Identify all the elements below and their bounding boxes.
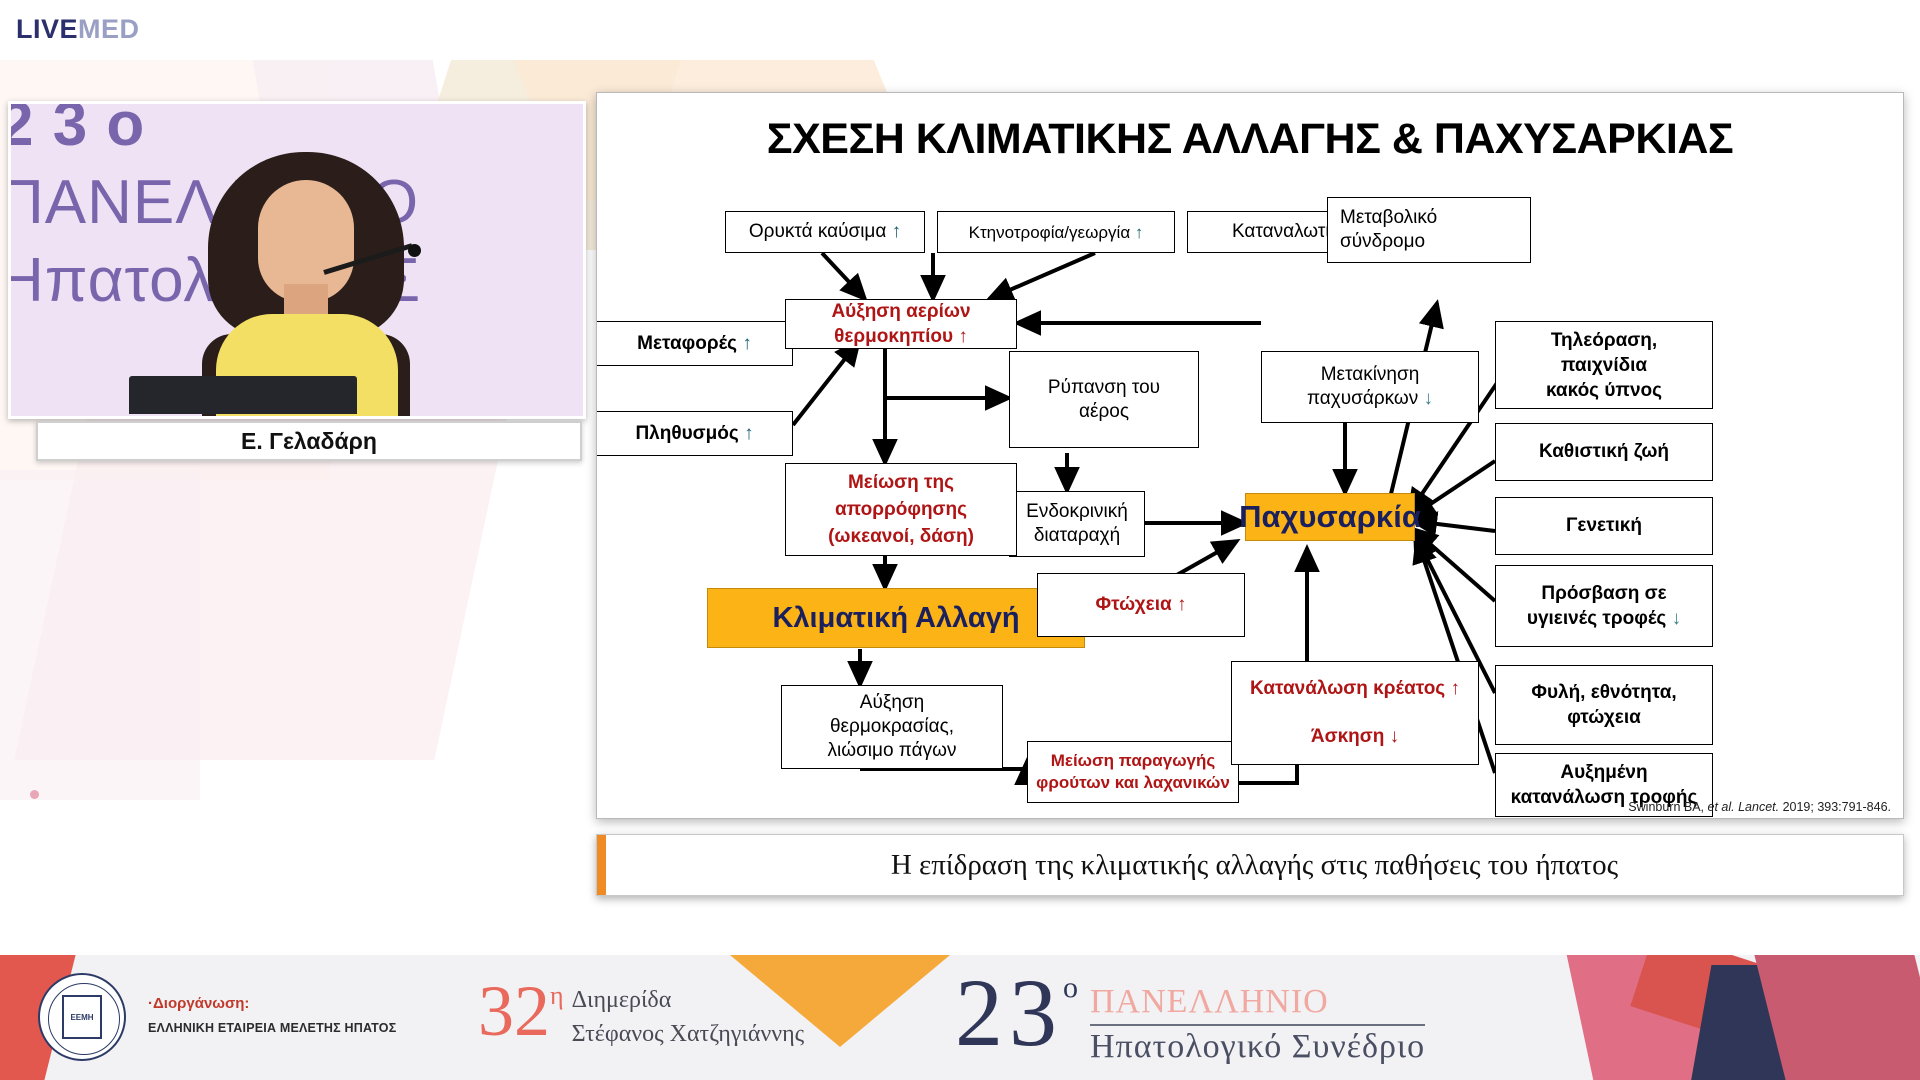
- node-fyli-ethnotita[interactable]: Φυλή, εθνότητα, φτώχεια: [1495, 665, 1713, 745]
- organizer-block: Διοργάνωση: ΕΛΛΗΝΙΚΗ ΕΤΑΙΡΕΙΑ ΜΕΛΕΤΗΣ ΗΠ…: [148, 995, 396, 1035]
- brand-live: LIVE: [16, 14, 78, 44]
- up-arrow-icon: ↑: [892, 220, 902, 244]
- event-23-line1: ΠΑΝΕΛΛΗΝΙΟ: [1090, 983, 1425, 1021]
- laptop-screen: [129, 376, 357, 414]
- node-prosvasi-line1: Πρόσβαση σε: [1541, 581, 1666, 606]
- node-meiosi-paragogis-line1: Μείωση παραγωγής: [1051, 750, 1216, 772]
- node-plithysmos[interactable]: Πληθυσμός ↑: [597, 411, 793, 456]
- event-23-text: ΠΑΝΕΛΛΗΝΙΟ Ηπατολογικό Συνέδριο: [1090, 983, 1425, 1066]
- node-tileorasi-line1: Τηλεόραση,: [1551, 328, 1657, 353]
- brand-logo: LIVEMED: [16, 14, 140, 45]
- node-auximeni-line1: Αυξημένη: [1560, 760, 1647, 785]
- lecture-title: Η επίδραση της κλιματικής αλλαγής στις π…: [606, 849, 1903, 882]
- event-32-block: 32 η Διημερίδα Στέφανος Χατζηγιάννης: [478, 977, 804, 1051]
- organizer-label: Διοργάνωση:: [148, 995, 396, 1012]
- down-arrow-icon: ↓: [1390, 726, 1400, 747]
- node-meiosi-aporrofisis-line2: απορρόφησης: [835, 496, 967, 523]
- up-arrow-icon: ↑: [742, 332, 752, 356]
- background-top-strip: [0, 0, 1920, 60]
- node-kathistiki-zoi-label: Καθιστική ζωή: [1539, 440, 1669, 464]
- lecture-title-banner: Η επίδραση της κλιματικής αλλαγής στις π…: [596, 834, 1904, 896]
- node-genetiki-label: Γενετική: [1566, 514, 1642, 538]
- node-endokriniki-line2: διαταραχή: [1034, 524, 1120, 548]
- node-auxisi-thermokrasias-line3: λιώσιμο πάγων: [828, 739, 957, 763]
- event-23-line2: Ηπατολογικό Συνέδριο: [1090, 1028, 1425, 1066]
- flow-diagram: Ορυκτά καύσιμα ↑ Κτηνοτροφία/γεωργία ↑ Κ…: [597, 93, 1905, 820]
- event-32-line1: Διημερίδα: [572, 983, 805, 1017]
- node-auxisi-thermokrasias[interactable]: Αύξηση θερμοκρασίας, λιώσιμο πάγων: [781, 685, 1003, 769]
- speaker-panel[interactable]: 2 3 ο ΠΑΝΕΛΛΗΝΙΟ Ηπατολογικό Σ Ε. Γελαδά…: [8, 101, 586, 461]
- event-23-suffix: ο: [1063, 971, 1078, 1005]
- node-fyli-line1: Φυλή, εθνότητα,: [1531, 680, 1676, 705]
- node-metakinisi-paxysarkon[interactable]: Μετακίνηση παχυσάρκων ↓: [1261, 351, 1479, 423]
- node-endokriniki-diataraxi[interactable]: Ενδοκρινική διαταραχή: [1009, 491, 1145, 557]
- node-metafores[interactable]: Μεταφορές ↑: [597, 321, 793, 366]
- node-meiosi-paragogis-line2: φρούτων και λαχανικών: [1036, 772, 1230, 794]
- event-32-suffix: η: [550, 981, 564, 1011]
- node-meiosi-aporrofisis[interactable]: Μείωση της απορρόφησης (ωκεανοί, δάση): [785, 463, 1017, 556]
- node-metaboliko-line1: Μεταβολικό: [1340, 206, 1437, 230]
- node-rypansi-aera[interactable]: Ρύπανση του αέρος: [1009, 351, 1199, 448]
- node-fyli-line2: φτώχεια: [1567, 705, 1641, 730]
- screen: LIVEMED 2 3 ο ΠΑΝΕΛΛΗΝΙΟ Ηπατολογικό Σ Ε…: [0, 0, 1920, 1080]
- organizer-name: ΕΛΛΗΝΙΚΗ ΕΤΑΙΡΕΙΑ ΜΕΛΕΤΗΣ ΗΠΑΤΟΣ: [148, 1021, 396, 1035]
- speaker-name: Ε. Γελαδάρη: [241, 428, 377, 455]
- event-32-line2: Στέφανος Χατζηγιάννης: [572, 1017, 805, 1051]
- node-endokriniki-line1: Ενδοκρινική: [1026, 500, 1128, 524]
- down-arrow-icon: ↓: [1672, 608, 1682, 629]
- society-logo: ΕΕΜΗ: [38, 973, 126, 1061]
- node-metakinisi-line1: Μετακίνηση: [1321, 363, 1420, 387]
- brand-med: MED: [78, 14, 140, 44]
- node-klimatiki-allagi[interactable]: Κλιματική Αλλαγή: [707, 588, 1085, 648]
- node-ftocheia[interactable]: Φτώχεια ↑: [1037, 573, 1245, 637]
- node-kathistiki-zoi[interactable]: Καθιστική ζωή: [1495, 423, 1713, 481]
- node-tileorasi-line3: κακός ύπνος: [1546, 378, 1662, 403]
- node-kreas-row: Κατανάλωση κρέατος ↑: [1250, 677, 1460, 701]
- speaker-name-plate: Ε. Γελαδάρη: [36, 421, 582, 461]
- event-23-divider: [1090, 1024, 1425, 1026]
- up-arrow-icon: ↑: [958, 326, 968, 347]
- event-32-text: Διημερίδα Στέφανος Χατζηγιάννης: [572, 983, 805, 1051]
- node-metaboliko-syndromo[interactable]: Μεταβολικό σύνδρομο: [1327, 197, 1531, 263]
- logo-text: ΕΕΜΗ: [70, 1013, 93, 1022]
- down-arrow-icon: ↓: [1424, 388, 1434, 409]
- node-auxisi-aerion[interactable]: Αύξηση αερίων θερμοκηπίου ↑: [785, 299, 1017, 349]
- node-prosvasi-line2: υγιεινές τροφές ↓: [1527, 606, 1681, 631]
- node-klimatiki-allagi-label: Κλιματική Αλλαγή: [772, 606, 1019, 630]
- background-shape: [0, 470, 200, 800]
- node-metakinisi-line2: παχυσάρκων ↓: [1307, 387, 1433, 411]
- node-ktinotrofia-label: Κτηνοτροφία/γεωργία: [969, 222, 1131, 243]
- node-meiosi-paragogis[interactable]: Μείωση παραγωγής φρούτων και λαχανικών: [1027, 741, 1239, 803]
- node-genetiki[interactable]: Γενετική: [1495, 497, 1713, 555]
- presentation-slide[interactable]: ΣΧΕΣΗ ΚΛΙΜΑΤΙΚΗΣ ΑΛΛΑΓΗΣ & ΠΑΧΥΣΑΡΚΙΑΣ: [596, 92, 1904, 819]
- citation-author: Swinburn BA,: [1628, 800, 1704, 814]
- citation-rest: 2019; 393:791-846.: [1779, 800, 1891, 814]
- up-arrow-icon: ↑: [1450, 678, 1460, 699]
- node-rypansi-line1: Ρύπανση του: [1048, 376, 1160, 400]
- node-auxisi-thermokrasias-line1: Αύξηση: [860, 691, 924, 715]
- event-32-number: 32: [478, 977, 550, 1045]
- node-paxysarkia[interactable]: Παχυσαρκία: [1245, 493, 1415, 541]
- node-orykta-kausima[interactable]: Ορυκτά καύσιμα ↑: [725, 211, 925, 253]
- node-katanalosi-kreatos-askisi[interactable]: Κατανάλωση κρέατος ↑ Άσκηση ↓: [1231, 661, 1479, 765]
- node-orykta-label: Ορυκτά καύσιμα: [749, 220, 887, 244]
- background-dot: [30, 790, 39, 799]
- node-auxisi-aerion-line1: Αύξηση αερίων: [831, 299, 970, 324]
- up-arrow-icon: ↑: [1135, 222, 1144, 243]
- citation-journal: et al. Lancet.: [1708, 800, 1780, 814]
- up-arrow-icon: ↑: [1177, 593, 1187, 617]
- node-metafores-label: Μεταφορές: [637, 332, 737, 356]
- node-tileorasi-paixnidia[interactable]: Τηλεόραση, παιχνίδια κακός ύπνος: [1495, 321, 1713, 409]
- node-meiosi-aporrofisis-line3: (ωκεανοί, δάση): [828, 523, 974, 550]
- node-prosvasi-ygieines-trofes[interactable]: Πρόσβαση σε υγιεινές τροφές ↓: [1495, 565, 1713, 647]
- node-rypansi-line2: αέρος: [1079, 400, 1129, 424]
- event-23-block: 23 ο ΠΑΝΕΛΛΗΝΙΟ Ηπατολογικό Συνέδριο: [955, 965, 1425, 1066]
- source-citation: Swinburn BA, et al. Lancet. 2019; 393:79…: [1628, 800, 1891, 814]
- banner-accent-bar: [597, 835, 606, 895]
- node-meiosi-aporrofisis-line1: Μείωση της: [848, 469, 954, 496]
- node-tileorasi-line2: παιχνίδια: [1561, 353, 1647, 378]
- node-ktinotrofia-georgia[interactable]: Κτηνοτροφία/γεωργία ↑: [937, 211, 1175, 253]
- conference-footer: ΕΕΜΗ Διοργάνωση: ΕΛΛΗΝΙΚΗ ΕΤΑΙΡΕΙΑ ΜΕΛΕΤ…: [0, 955, 1920, 1080]
- node-ftocheia-label: Φτώχεια: [1096, 593, 1172, 617]
- node-auxisi-thermokrasias-line2: θερμοκρασίας,: [830, 715, 954, 739]
- up-arrow-icon: ↑: [744, 422, 754, 446]
- node-askisi-row: Άσκηση ↓: [1311, 725, 1399, 749]
- node-paxysarkia-label: Παχυσαρκία: [1239, 505, 1421, 529]
- node-metaboliko-line2: σύνδρομο: [1340, 230, 1425, 254]
- node-auxisi-aerion-line2: θερμοκηπίου ↑: [834, 324, 968, 349]
- node-plithysmos-label: Πληθυσμός: [635, 422, 738, 446]
- microphone-icon: [408, 244, 421, 257]
- event-23-number: 23: [955, 965, 1063, 1061]
- speaker-video[interactable]: 2 3 ο ΠΑΝΕΛΛΗΝΙΟ Ηπατολογικό Σ: [8, 101, 586, 419]
